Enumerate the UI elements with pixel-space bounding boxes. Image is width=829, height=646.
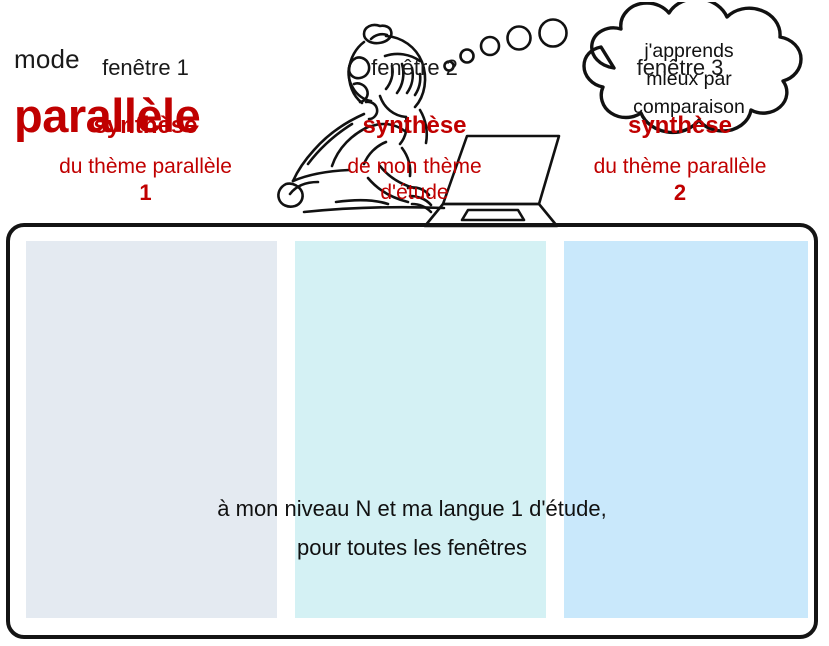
window-label-1: fenêtre 1 bbox=[24, 55, 267, 81]
panel-subtitle-3: du thème parallèle 2 bbox=[562, 154, 798, 206]
panel-subtitle-2: de mon thème d'étude bbox=[293, 154, 536, 205]
panel-subtitle-line-1: de mon thème bbox=[347, 155, 481, 178]
panel-3[interactable]: fenêtre 3 synthèse du thème parallèle 2 bbox=[558, 18, 802, 258]
panel-1[interactable]: fenêtre 1 synthèse du thème parallèle 1 bbox=[20, 18, 271, 258]
panels-area bbox=[6, 223, 818, 639]
synthesis-label-1: synthèse bbox=[24, 112, 267, 140]
panel-subtitle-line-2: d'étude bbox=[380, 181, 448, 204]
footer-note-line-2: pour toutes les fenêtres bbox=[6, 528, 818, 567]
panel-subtitle-number-3: 2 bbox=[674, 180, 686, 205]
panel-2[interactable]: fenêtre 2 synthèse de mon thème d'étude bbox=[289, 18, 540, 258]
panel-subtitle-number-1: 1 bbox=[139, 180, 151, 205]
footer-note: à mon niveau N et ma langue 1 d'étude, p… bbox=[6, 489, 818, 567]
panel-subtitle-line-1: du thème parallèle bbox=[59, 155, 232, 178]
panel-subtitle-line-1: du thème parallèle bbox=[594, 155, 767, 178]
window-label-3: fenêtre 3 bbox=[562, 55, 798, 81]
footer-note-line-1: à mon niveau N et ma langue 1 d'étude, bbox=[6, 489, 818, 528]
slide-root: mode parallèle bbox=[0, 0, 829, 646]
synthesis-label-2: synthèse bbox=[293, 112, 536, 140]
panel-subtitle-1: du thème parallèle 1 bbox=[24, 154, 267, 206]
synthesis-label-3: synthèse bbox=[562, 112, 798, 140]
window-label-2: fenêtre 2 bbox=[293, 55, 536, 81]
